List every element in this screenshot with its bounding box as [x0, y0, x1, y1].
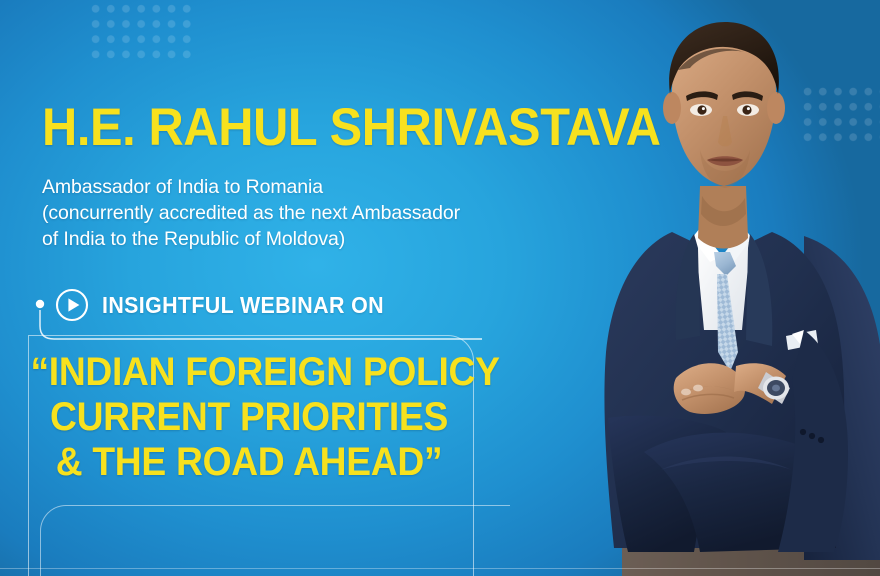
webinar-eyebrow: INSIGHTFUL WEBINAR ON [55, 288, 405, 322]
webinar-eyebrow-label: INSIGHTFUL WEBINAR ON [102, 292, 384, 319]
play-circle-icon [55, 288, 89, 322]
webinar-title-line-2: CURRENT PRIORITIES [30, 395, 467, 440]
webinar-title-line-1: “INDIAN FOREIGN POLICY [30, 350, 467, 395]
speaker-role-line-1: Ambassador of India to Romania [42, 174, 570, 200]
speaker-name: H.E. RAHUL SHRIVASTAVA [42, 100, 661, 156]
speaker-role-line-2: (concurrently accredited as the next Amb… [42, 200, 570, 226]
webinar-title: “INDIAN FOREIGN POLICY CURRENT PRIORITIE… [14, 350, 484, 485]
speaker-role: Ambassador of India to Romania (concurre… [42, 174, 570, 252]
dot-grid-top-right-icon [800, 84, 880, 148]
speaker-role-line-3: of India to the Republic of Moldova) [42, 226, 570, 252]
webinar-promo-banner: H.E. RAHUL SHRIVASTAVA Ambassador of Ind… [0, 0, 880, 576]
webinar-title-line-3: & THE ROAD AHEAD” [30, 440, 467, 485]
